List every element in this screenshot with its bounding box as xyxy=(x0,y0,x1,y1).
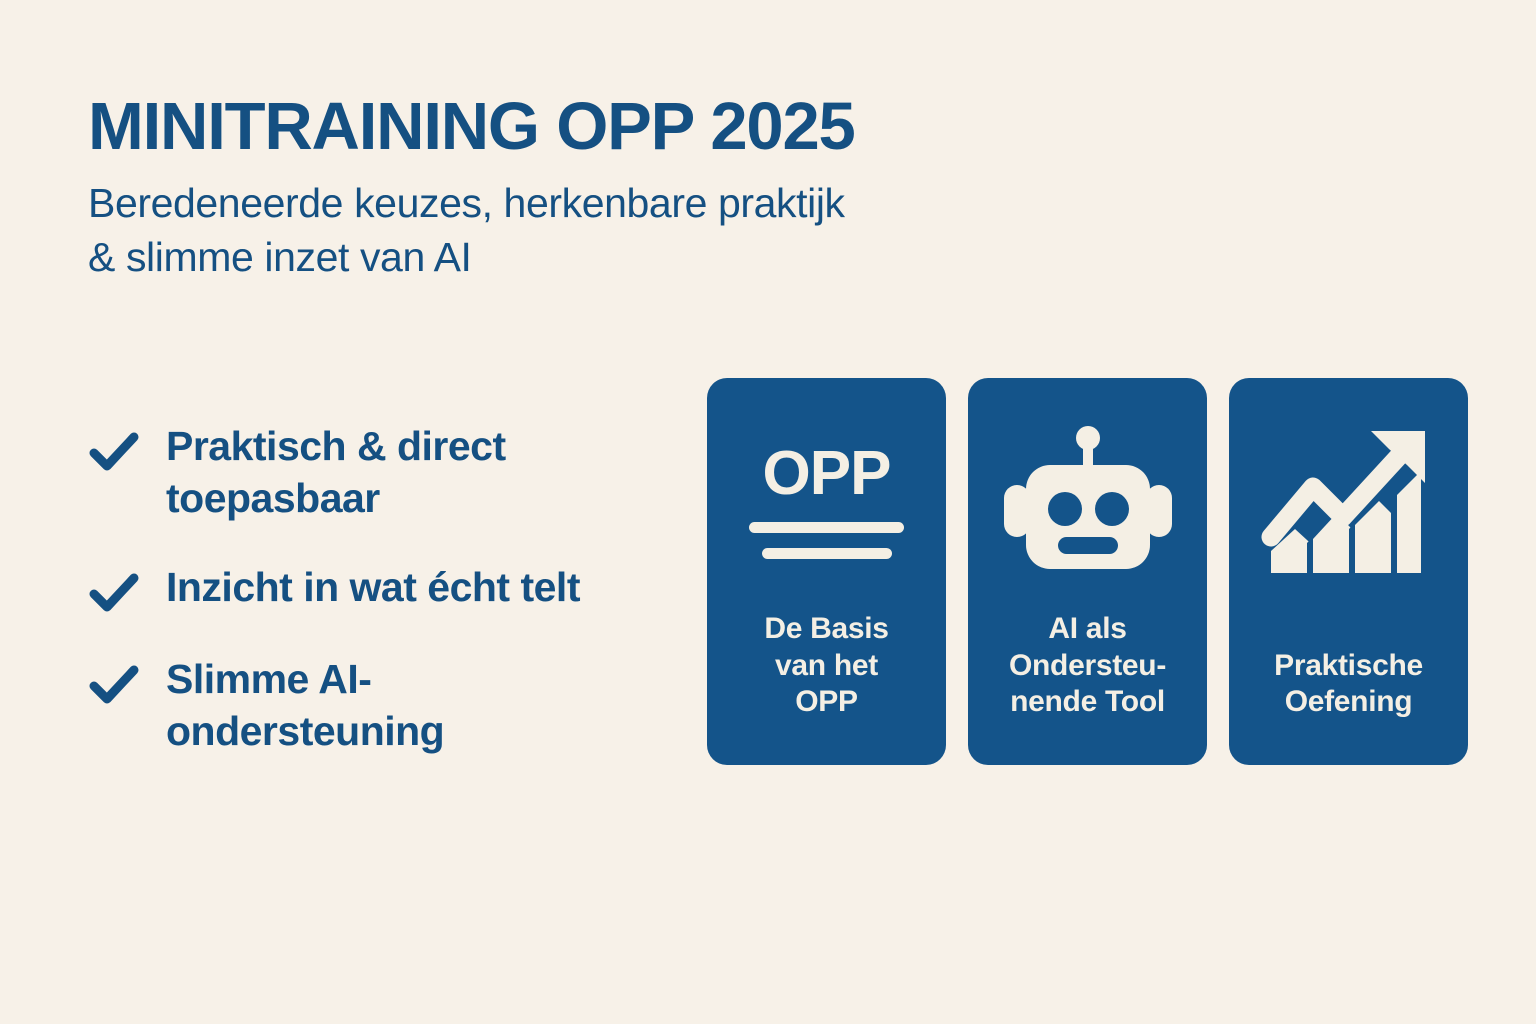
card-label: De Basis van het OPP xyxy=(764,611,888,721)
list-item: Inzicht in wat écht telt xyxy=(88,561,688,617)
check-icon xyxy=(88,661,140,709)
card-label-line-2: Oefening xyxy=(1274,684,1423,721)
check-icon xyxy=(88,428,140,476)
card-de-basis-van-het-opp[interactable]: OPP De Basis van het OPP xyxy=(707,378,946,765)
page-subtitle: Beredeneerde keuzes, herkenbare praktijk… xyxy=(88,176,688,285)
list-item: Slimme AI-ondersteuning xyxy=(88,653,688,758)
card-label: AI als Ondersteu- nende Tool xyxy=(1009,611,1166,721)
list-item-label: Inzicht in wat écht telt xyxy=(166,561,580,613)
opp-rule-short xyxy=(762,548,892,559)
card-label: Praktische Oefening xyxy=(1274,648,1423,721)
subtitle-line-1: Beredeneerde keuzes, herkenbare praktijk xyxy=(88,176,688,231)
list-item: Praktisch & direct toepasbaar xyxy=(88,420,688,525)
card-ai-als-ondersteunende-tool[interactable]: AI als Ondersteu- nende Tool xyxy=(968,378,1207,765)
page-title: MINITRAINING OPP 2025 xyxy=(88,92,688,162)
card-label-line-3: OPP xyxy=(764,684,888,721)
check-icon xyxy=(88,569,140,617)
card-label-line-3: nende Tool xyxy=(1009,684,1166,721)
card-label-line-2: van het xyxy=(764,648,888,685)
subtitle-line-2: & slimme inzet van AI xyxy=(88,230,688,285)
module-card-row: OPP De Basis van het OPP xyxy=(707,378,1468,765)
header-block: MINITRAINING OPP 2025 Beredeneerde keuze… xyxy=(88,92,688,285)
card-label-line-1: AI als xyxy=(1009,611,1166,648)
slide-canvas: MINITRAINING OPP 2025 Beredeneerde keuze… xyxy=(0,0,1536,1024)
robot-icon xyxy=(978,418,1197,583)
card-label-line-1: De Basis xyxy=(764,611,888,648)
opp-rule-long xyxy=(749,522,904,533)
benefits-checklist: Praktisch & direct toepasbaar Inzicht in… xyxy=(88,420,688,758)
list-item-label: Slimme AI-ondersteuning xyxy=(166,653,636,758)
card-label-line-1: Praktische xyxy=(1274,648,1423,685)
opp-document-icon: OPP xyxy=(717,418,936,583)
card-praktische-oefening[interactable]: Praktische Oefening xyxy=(1229,378,1468,765)
growth-chart-icon xyxy=(1239,418,1458,583)
opp-wordmark-text: OPP xyxy=(763,443,891,505)
list-item-label: Praktisch & direct toepasbaar xyxy=(166,420,636,525)
card-label-line-2: Ondersteu- xyxy=(1009,648,1166,685)
